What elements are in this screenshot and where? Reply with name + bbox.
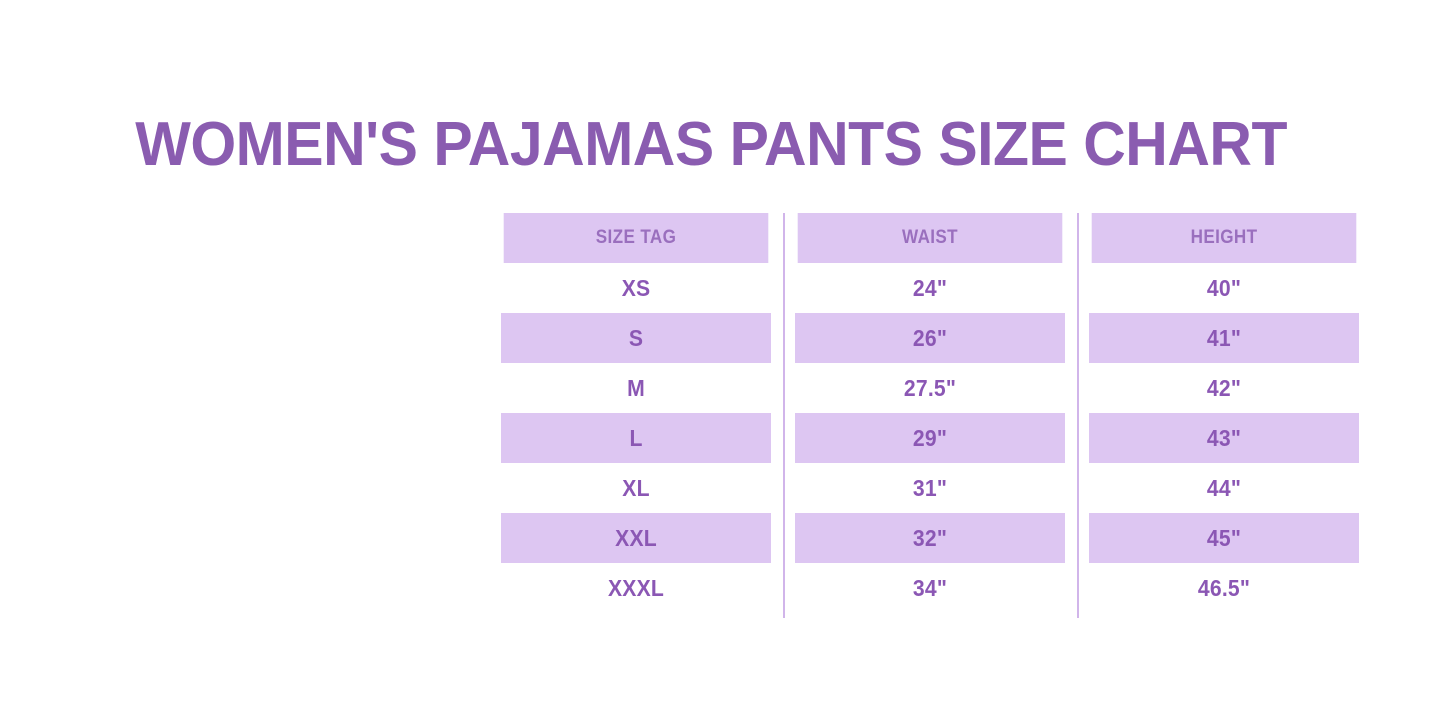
cell-waist: 29" (795, 413, 1065, 463)
cell-waist: 31" (795, 463, 1065, 513)
table-body: XS 24" 40" S 26" 41" M 27.5" 42" L 29" (489, 263, 1371, 613)
cell-height: 45" (1089, 513, 1359, 563)
table-row: XS 24" 40" (489, 263, 1371, 313)
cell-size-tag: XS (501, 263, 771, 313)
cell-waist: 34" (795, 563, 1065, 613)
cell-size-tag: XXXL (501, 563, 771, 613)
size-chart-page: WOMEN'S PAJAMAS PANTS SIZE CHART SIZE TA… (0, 0, 1445, 723)
cell-size-tag: XXL (501, 513, 771, 563)
cell-height: 46.5" (1089, 563, 1359, 613)
cell-height: 42" (1089, 363, 1359, 413)
column-divider-1 (783, 213, 785, 618)
cell-height: 41" (1089, 313, 1359, 363)
page-title: WOMEN'S PAJAMAS PANTS SIZE CHART (36, 106, 1409, 184)
cell-height: 40" (1089, 263, 1359, 313)
column-header-height: HEIGHT (1092, 213, 1357, 263)
cell-waist: 24" (795, 263, 1065, 313)
cell-size-tag: S (501, 313, 771, 363)
column-header-waist: WAIST (798, 213, 1063, 263)
table-row: XL 31" 44" (489, 463, 1371, 513)
size-chart-table: SIZE TAG WAIST HEIGHT XS 24" 40" S 26" 4… (489, 213, 1371, 613)
cell-waist: 32" (795, 513, 1065, 563)
table-header-row: SIZE TAG WAIST HEIGHT (489, 213, 1371, 263)
cell-size-tag: M (501, 363, 771, 413)
table-header: SIZE TAG WAIST HEIGHT (489, 213, 1371, 263)
cell-waist: 27.5" (795, 363, 1065, 413)
cell-height: 44" (1089, 463, 1359, 513)
size-chart-table-container: SIZE TAG WAIST HEIGHT XS 24" 40" S 26" 4… (489, 213, 1371, 613)
table-row: XXXL 34" 46.5" (489, 563, 1371, 613)
cell-waist: 26" (795, 313, 1065, 363)
table-row: L 29" 43" (489, 413, 1371, 463)
cell-height: 43" (1089, 413, 1359, 463)
table-row: XXL 32" 45" (489, 513, 1371, 563)
table-row: M 27.5" 42" (489, 363, 1371, 413)
table-row: S 26" 41" (489, 313, 1371, 363)
column-divider-2 (1077, 213, 1079, 618)
cell-size-tag: L (501, 413, 771, 463)
column-header-size-tag: SIZE TAG (504, 213, 769, 263)
cell-size-tag: XL (501, 463, 771, 513)
